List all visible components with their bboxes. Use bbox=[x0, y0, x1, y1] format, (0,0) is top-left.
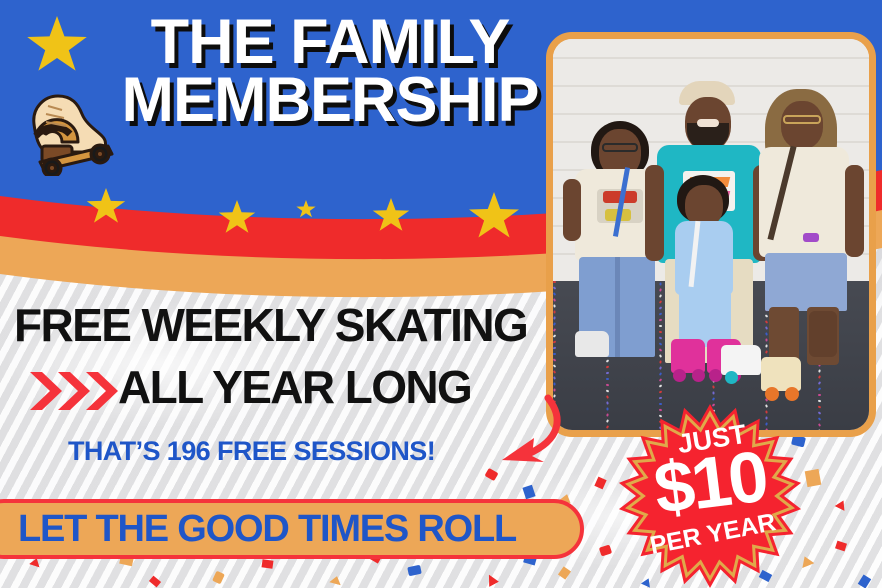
photo-confetti bbox=[553, 341, 557, 344]
photo-confetti bbox=[659, 379, 663, 383]
photo-confetti bbox=[818, 370, 821, 373]
photo-confetti bbox=[659, 337, 663, 340]
photo-confetti bbox=[818, 394, 821, 396]
photo-confetti bbox=[553, 293, 556, 297]
photo-confetti bbox=[553, 347, 556, 350]
photo-confetti bbox=[553, 317, 556, 320]
photo-confetti bbox=[659, 367, 662, 371]
photo-confetti bbox=[606, 408, 608, 411]
photo-confetti bbox=[553, 281, 556, 283]
photo-confetti bbox=[818, 412, 822, 415]
photo-confetti bbox=[553, 353, 556, 355]
photo-skate bbox=[721, 345, 761, 375]
photo-confetti bbox=[659, 385, 663, 388]
photo-confetti bbox=[659, 319, 662, 322]
photo-confetti bbox=[765, 327, 768, 331]
photo-confetti bbox=[765, 333, 768, 336]
photo-confetti bbox=[659, 313, 663, 316]
price-burst-badge bbox=[612, 404, 808, 588]
family-photo bbox=[546, 32, 876, 437]
photo-confetti bbox=[659, 361, 661, 364]
photo-confetti bbox=[712, 398, 715, 402]
photo-confetti bbox=[553, 377, 556, 380]
photo-confetti bbox=[553, 299, 556, 303]
photo-confetti bbox=[818, 400, 821, 403]
photo-confetti bbox=[659, 343, 663, 346]
photo-skate bbox=[575, 331, 609, 357]
photo-confetti bbox=[606, 378, 609, 380]
photo-confetti bbox=[765, 321, 768, 325]
photo-confetti bbox=[659, 355, 662, 359]
photo-confetti bbox=[818, 424, 821, 428]
photo-confetti bbox=[712, 386, 715, 389]
photo-confetti bbox=[606, 426, 609, 430]
headline-line-2: ALL YEAR LONG bbox=[118, 360, 471, 414]
photo-confetti bbox=[553, 323, 556, 327]
photo-skate-wheel bbox=[725, 371, 738, 384]
title-line-1: THE FAMILY bbox=[120, 14, 540, 72]
photo-confetti bbox=[765, 345, 767, 348]
photo-confetti bbox=[659, 325, 662, 327]
page-title: THE FAMILY MEMBERSHIP bbox=[120, 14, 540, 130]
photo-confetti bbox=[606, 372, 609, 375]
photo-confetti bbox=[659, 289, 662, 292]
triple-chevron-right-icon bbox=[28, 368, 120, 414]
photo-confetti bbox=[818, 388, 822, 391]
photo-confetti bbox=[606, 402, 609, 405]
photo-confetti bbox=[818, 376, 821, 380]
photo-confetti bbox=[818, 430, 821, 433]
photo-confetti bbox=[659, 307, 663, 310]
photo-confetti bbox=[659, 301, 662, 305]
photo-confetti bbox=[553, 383, 555, 386]
photo-confetti bbox=[553, 371, 556, 375]
title-line-2: MEMBERSHIP bbox=[120, 72, 540, 130]
subline-text: THAT’S 196 FREE SESSIONS! bbox=[68, 436, 435, 467]
photo-confetti bbox=[606, 366, 610, 369]
photo-confetti bbox=[818, 406, 822, 409]
photo-confetti bbox=[765, 351, 768, 355]
photo-confetti bbox=[659, 349, 663, 353]
photo-confetti bbox=[659, 295, 662, 299]
photo-confetti bbox=[659, 397, 662, 399]
photo-confetti bbox=[765, 315, 769, 318]
photo-confetti bbox=[553, 329, 556, 333]
photo-confetti bbox=[606, 360, 610, 363]
photo-confetti bbox=[606, 384, 609, 387]
curved-arrow-down-left-icon bbox=[488, 392, 578, 472]
photo-confetti bbox=[659, 331, 662, 333]
photo-confetti bbox=[553, 305, 556, 308]
photo-confetti bbox=[553, 359, 557, 362]
photo-confetti bbox=[818, 418, 821, 422]
photo-confetti bbox=[553, 287, 557, 290]
photo-confetti bbox=[659, 283, 661, 286]
roller-skate-icon bbox=[16, 84, 120, 176]
photo-confetti bbox=[712, 392, 714, 395]
promo-poster: THE FAMILY MEMBERSHIP bbox=[0, 0, 882, 588]
photo-confetti bbox=[554, 311, 556, 314]
tagline-text: LET THE GOOD TIMES ROLL bbox=[18, 508, 578, 551]
photo-confetti bbox=[553, 335, 557, 338]
photo-confetti bbox=[606, 390, 610, 393]
photo-confetti bbox=[659, 391, 663, 394]
photo-confetti bbox=[606, 396, 609, 400]
photo-confetti bbox=[606, 420, 609, 424]
photo-confetti bbox=[659, 373, 662, 377]
photo-confetti bbox=[606, 414, 609, 417]
photo-confetti bbox=[553, 365, 556, 369]
headline-line-1: FREE WEEKLY SKATING bbox=[14, 298, 544, 352]
photo-confetti bbox=[818, 382, 821, 386]
photo-confetti bbox=[765, 339, 767, 342]
